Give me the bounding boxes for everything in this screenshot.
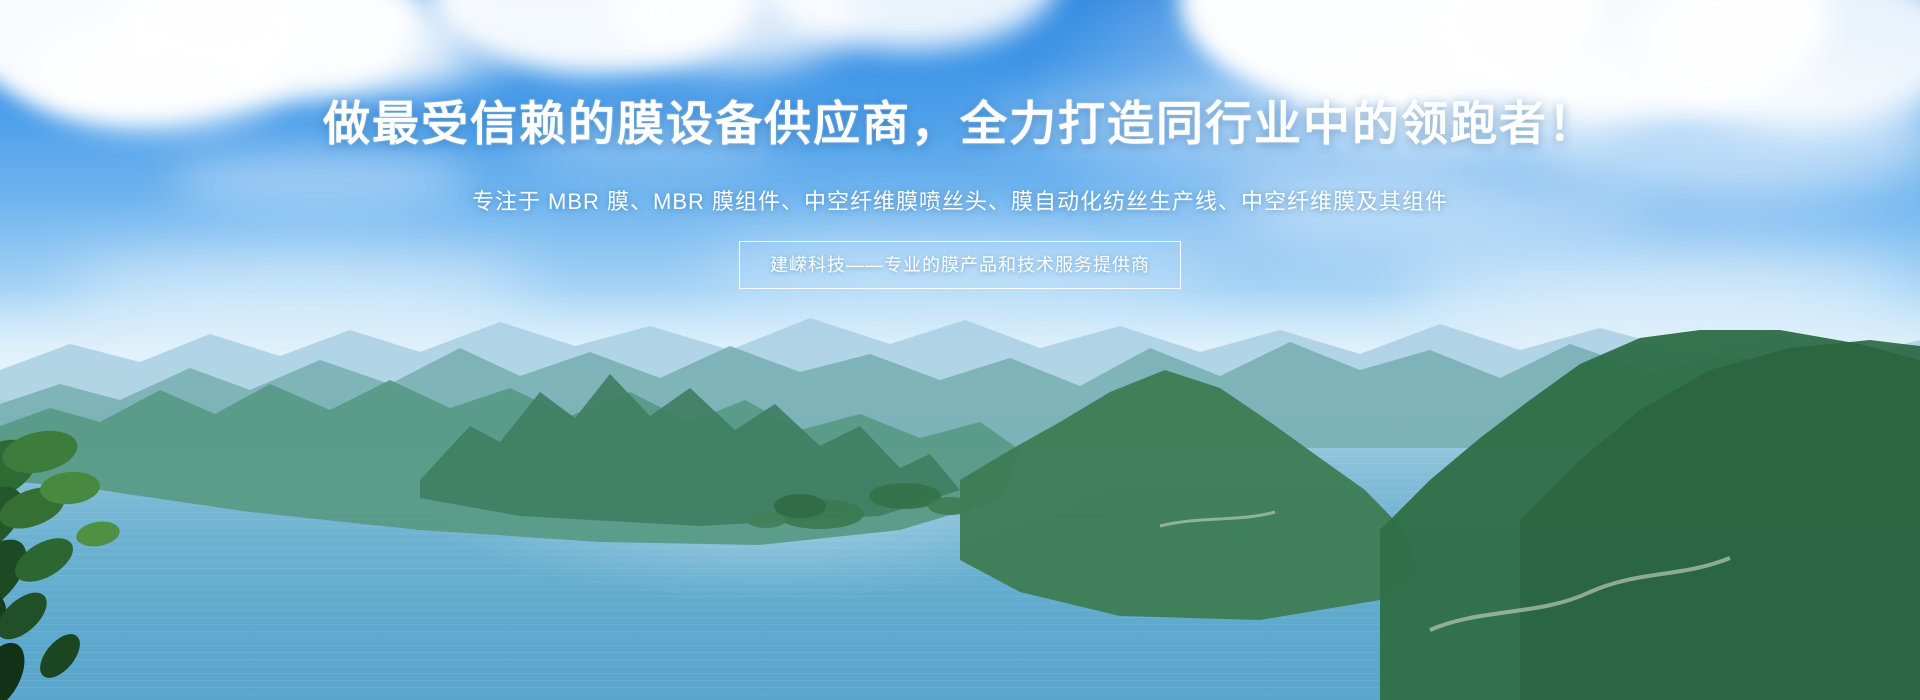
hero-banner: 做最受信赖的膜设备供应商，全力打造同行业中的领跑者！ 专注于 MBR 膜、MBR…: [0, 0, 1920, 700]
mountain-range-near: [0, 330, 1920, 700]
foreground-foliage: [0, 430, 210, 700]
cloud-shape: [330, 40, 510, 85]
cloud-shape: [1230, 175, 1650, 245]
cloud-shape: [980, 95, 1300, 150]
tagline-box[interactable]: 建嵘科技——专业的膜产品和技术服务提供商: [739, 241, 1181, 289]
cloud-shape: [520, 120, 780, 170]
cloud-shape: [170, 150, 470, 210]
